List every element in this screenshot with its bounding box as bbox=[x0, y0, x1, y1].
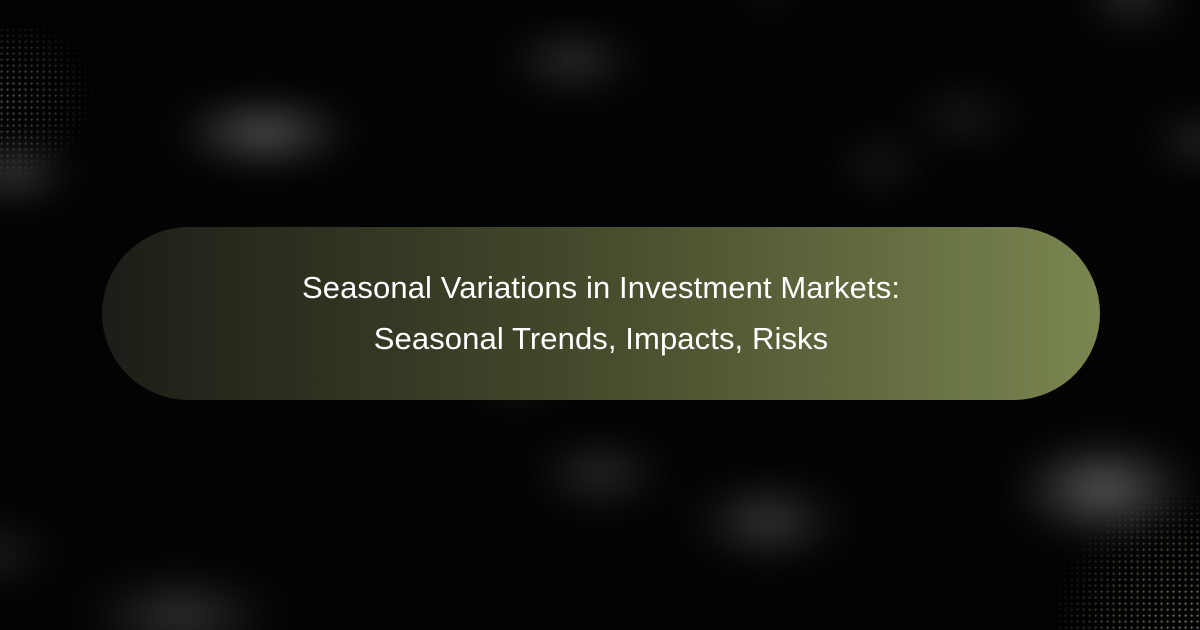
title-pill: Seasonal Variations in Investment Market… bbox=[102, 227, 1100, 400]
banner-canvas: Seasonal Variations in Investment Market… bbox=[0, 0, 1200, 630]
page-title: Seasonal Variations in Investment Market… bbox=[302, 263, 900, 363]
